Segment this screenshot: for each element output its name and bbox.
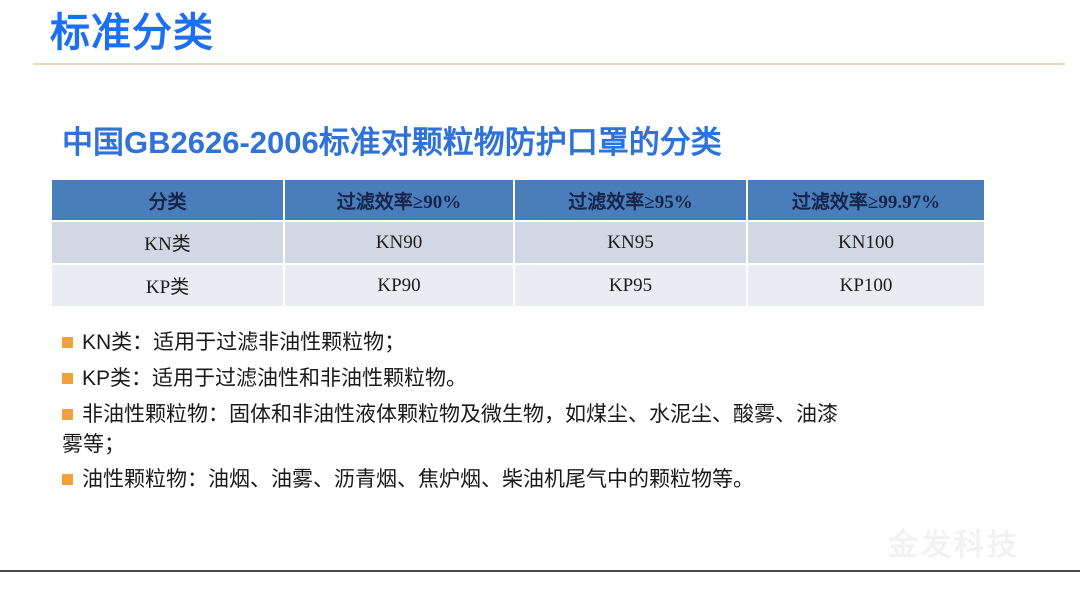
square-bullet-icon: [62, 409, 73, 420]
table-cell: KN100: [748, 220, 984, 263]
table-cell: KP类: [52, 263, 285, 306]
classification-table: 分类 过滤效率≥90% 过滤效率≥95% 过滤效率≥99.97% KN类 KN9…: [52, 180, 984, 306]
list-item: 油性颗粒物：油烟、油雾、沥青烟、焦炉烟、柴油机尾气中的颗粒物等。: [60, 464, 1020, 495]
list-item-label: KN类：适用于过滤非油性颗粒物；: [82, 331, 405, 354]
table-header-cell: 过滤效率≥99.97%: [748, 180, 984, 220]
table-header-cell: 过滤效率≥95%: [515, 180, 748, 220]
table-cell: KN95: [515, 220, 748, 263]
list-item-label: 非油性颗粒物：固体和非油性液体颗粒物及微生物，如煤尘、水泥尘、酸雾、油漆: [82, 403, 838, 426]
title-divider: [33, 63, 1065, 65]
list-item: 非油性颗粒物：固体和非油性液体颗粒物及微生物，如煤尘、水泥尘、酸雾、油漆: [60, 399, 1020, 430]
list-item-continuation: 雾等；: [60, 429, 1020, 460]
table-cell: KP95: [515, 263, 748, 306]
slide-footer: KINGFA + 创世界品牌 建百年金发 3: [0, 572, 1080, 606]
table-row: KN类 KN90 KN95 KN100: [52, 220, 984, 263]
table-header-cell: 过滤效率≥90%: [285, 180, 515, 220]
square-bullet-icon: [62, 373, 73, 384]
table-header-row: 分类 过滤效率≥90% 过滤效率≥95% 过滤效率≥99.97%: [52, 180, 984, 220]
table-cell: KP100: [748, 263, 984, 306]
section-subtitle: 中国GB2626-2006标准对颗粒物防护口罩的分类: [62, 117, 722, 162]
table-cell: KN90: [285, 220, 515, 263]
table-header-cell: 分类: [52, 180, 285, 220]
table-row: KP类 KP90 KP95 KP100: [52, 263, 984, 306]
list-item-label: 油性颗粒物：油烟、油雾、沥青烟、焦炉烟、柴油机尾气中的颗粒物等。: [82, 468, 754, 491]
table-cell: KN类: [52, 220, 285, 263]
watermark: 金发科技: [888, 520, 1020, 564]
list-item-label: KP类：适用于过滤油性和非油性颗粒物。: [82, 367, 467, 390]
square-bullet-icon: [62, 337, 73, 348]
table-cell: KP90: [285, 263, 515, 306]
slide-canvas: 标准分类 中国GB2626-2006标准对颗粒物防护口罩的分类 分类 过滤效率≥…: [0, 0, 1080, 606]
square-bullet-icon: [62, 474, 73, 485]
list-item: KN类：适用于过滤非油性颗粒物；: [60, 327, 1020, 358]
list-item: KP类：适用于过滤油性和非油性颗粒物。: [60, 363, 1020, 394]
page-title: 标准分类: [50, 6, 214, 60]
bullet-list: KN类：适用于过滤非油性颗粒物； KP类：适用于过滤油性和非油性颗粒物。 非油性…: [60, 327, 1020, 500]
